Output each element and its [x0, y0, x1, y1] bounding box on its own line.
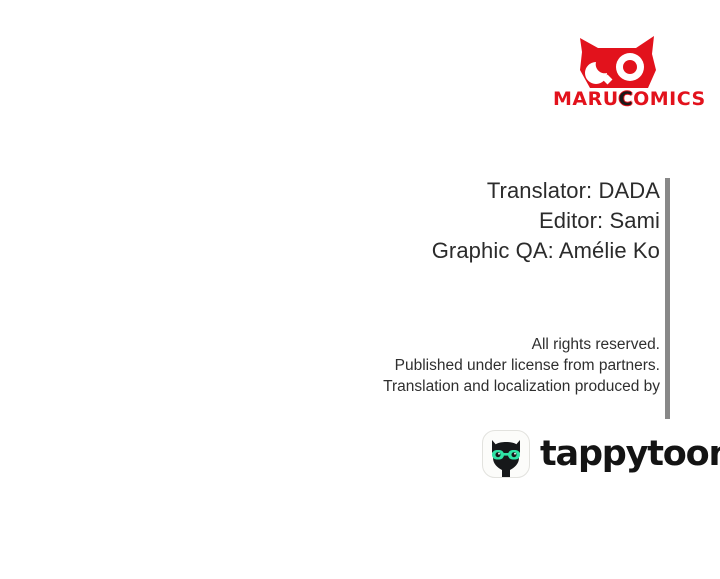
maru-word-maru: MARU: [553, 88, 619, 110]
credits-block: Translator: DADA Editor: Sami Graphic QA…: [300, 176, 672, 266]
tappytoon-wordmark: tappytoon: [540, 436, 720, 472]
rights-line-translation-produced-by: Translation and localization produced by: [220, 376, 660, 397]
credits-page: MARUCOMICS Translator: DADA Editor: Sami…: [0, 0, 720, 579]
credit-line-graphic-qa: Graphic QA: Amélie Ko: [300, 236, 660, 266]
rights-line-published-under-license: Published under license from partners.: [220, 355, 660, 376]
rights-block: All rights reserved. Published under lic…: [220, 334, 672, 397]
owl-head-icon: [553, 36, 683, 88]
credit-line-editor: Editor: Sami: [300, 206, 660, 236]
maru-comics-wordmark: MARUCOMICS: [553, 88, 683, 110]
maru-word-c: C: [619, 88, 633, 110]
rights-line-all-rights: All rights reserved.: [220, 334, 660, 355]
maru-word-omics: OMICS: [633, 88, 706, 110]
cat-with-glasses-icon: [482, 430, 530, 478]
maru-comics-logo: MARUCOMICS: [553, 36, 683, 116]
credit-line-translator: Translator: DADA: [300, 176, 660, 206]
tappytoon-logo[interactable]: tappytoon: [482, 428, 720, 480]
